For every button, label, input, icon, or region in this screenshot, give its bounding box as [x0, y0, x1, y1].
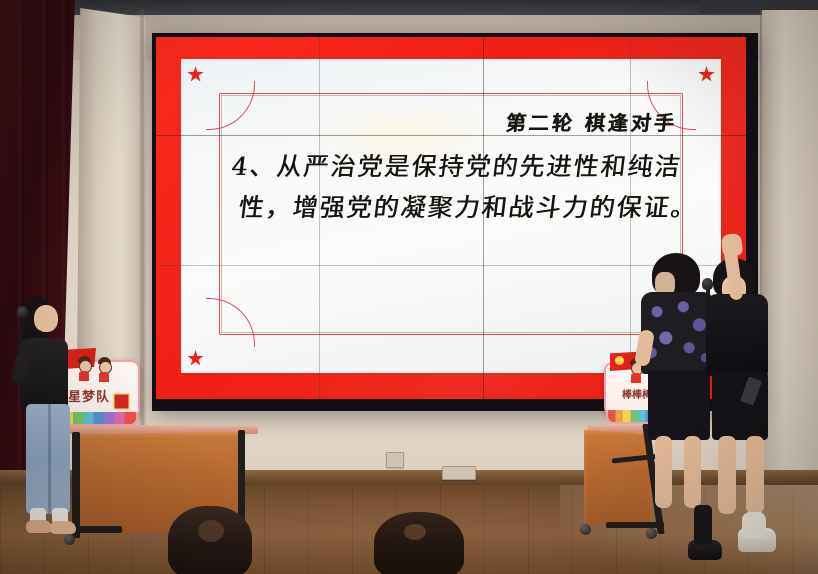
- slide-canvas: 第二轮 棋逢对手 4、从严治党是保持党的先进性和纯洁 性，增强党的凝聚力和战斗力…: [181, 59, 721, 373]
- kid-body: [99, 372, 109, 382]
- audience-hair-bun: [198, 520, 224, 542]
- panel-seam: [483, 37, 484, 399]
- kid-body: [79, 371, 89, 381]
- stage-scene: 第二轮 棋逢对手 4、从严治党是保持党的先进性和纯洁 性，增强党的凝聚力和战斗力…: [0, 0, 818, 574]
- podium-foot: [606, 522, 664, 528]
- person-leg: [718, 436, 736, 514]
- panel-seam: [156, 135, 746, 136]
- microphone-head-icon: [17, 306, 28, 318]
- person-shoe-upper: [694, 505, 712, 545]
- slide-body: 4、从严治党是保持党的先进性和纯洁 性，增强党的凝聚力和战斗力的保证。: [224, 147, 686, 228]
- person-leg: [655, 436, 672, 508]
- podium-caster: [580, 524, 591, 535]
- curtain-fold: [18, 0, 24, 520]
- audience-hair: [374, 512, 464, 574]
- panel-seam: [319, 37, 320, 399]
- pillar-edge: [140, 9, 144, 485]
- podium-body: [584, 430, 652, 528]
- wall-switch-panel-icon: [442, 466, 476, 480]
- podium-caster: [64, 534, 75, 545]
- person-shorts: [648, 370, 710, 440]
- ceiling-strip: [0, 0, 818, 16]
- person-shirt: [706, 294, 768, 376]
- person-torso: [20, 338, 68, 410]
- slide-body-line-2: 性，增强党的凝聚力和战斗力的保证。: [224, 188, 681, 229]
- wall-right-panel: [762, 10, 818, 480]
- person-head: [34, 305, 58, 332]
- slide-heading: 第二轮 棋逢对手: [179, 107, 678, 136]
- person-shoe: [50, 521, 76, 534]
- kid-body: [631, 373, 641, 383]
- flag-emblem-icon: [615, 356, 624, 365]
- audience-hair-highlight: [404, 524, 426, 540]
- podium-leg: [72, 432, 80, 538]
- panel-seam: [630, 37, 631, 399]
- person-shoe: [26, 520, 52, 533]
- person-leg: [684, 436, 701, 508]
- jeans-seam: [48, 404, 51, 514]
- person-shoe-upper: [742, 512, 766, 538]
- person-raised-hand: [721, 233, 743, 257]
- person-leg: [746, 436, 764, 514]
- seal-icon: [113, 393, 130, 410]
- wall-outlet-icon: [386, 452, 404, 468]
- podium-caster: [646, 528, 657, 539]
- microphone-head-icon: [702, 278, 713, 290]
- slide-body-line-1: 4、从严治党是保持党的先进性和纯洁: [229, 147, 686, 188]
